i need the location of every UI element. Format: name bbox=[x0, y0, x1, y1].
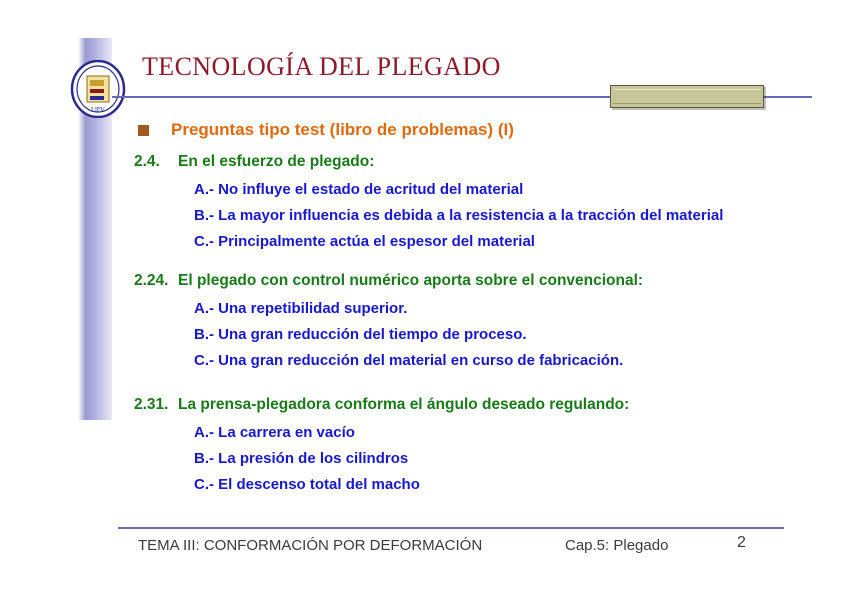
option-a: A.- La carrera en vacío bbox=[194, 420, 629, 446]
question-number: 2.24. bbox=[134, 272, 178, 290]
slide: UPV TECNOLOGÍA DEL PLEGADO Preguntas tip… bbox=[0, 0, 848, 599]
question-options: A.- La carrera en vacío B.- La presión d… bbox=[194, 420, 629, 498]
question-block: 2.31. La prensa-plegadora conforma el án… bbox=[134, 396, 629, 498]
footer-center-label: Cap.5: Plegado bbox=[565, 537, 668, 554]
option-c: C.- Principalmente actúa el espesor del … bbox=[194, 229, 723, 255]
header-decorative-box bbox=[610, 85, 764, 108]
question-text: La prensa-plegadora conforma el ángulo d… bbox=[178, 396, 629, 414]
question-text: El plegado con control numérico aporta s… bbox=[178, 272, 643, 290]
svg-text:UPV: UPV bbox=[91, 106, 105, 114]
question-header: 2.31. La prensa-plegadora conforma el án… bbox=[134, 396, 629, 414]
page-number: 2 bbox=[737, 534, 746, 552]
question-number: 2.31. bbox=[134, 396, 178, 414]
question-options: A.- No influye el estado de acritud del … bbox=[194, 177, 723, 255]
option-c: C.- Una gran reducción del material en c… bbox=[194, 348, 643, 374]
option-b: B.- Una gran reducción del tiempo de pro… bbox=[194, 322, 643, 348]
question-header: 2.24. El plegado con control numérico ap… bbox=[134, 272, 643, 290]
bullet-square-icon bbox=[138, 125, 149, 136]
footer-divider bbox=[118, 527, 784, 529]
question-options: A.- Una repetibilidad superior. B.- Una … bbox=[194, 296, 643, 374]
option-b: B.- La presión de los cilindros bbox=[194, 446, 629, 472]
question-number: 2.4. bbox=[134, 153, 178, 171]
university-logo-icon: UPV bbox=[70, 60, 126, 118]
question-block: 2.4. En el esfuerzo de plegado: A.- No i… bbox=[134, 153, 723, 255]
section-heading: Preguntas tipo test (libro de problemas)… bbox=[138, 120, 514, 140]
option-b: B.- La mayor influencia es debida a la r… bbox=[194, 203, 723, 229]
page-title: TECNOLOGÍA DEL PLEGADO bbox=[142, 52, 501, 82]
option-a: A.- No influye el estado de acritud del … bbox=[194, 177, 723, 203]
footer-left-label: TEMA III: CONFORMACIÓN POR DEFORMACIÓN bbox=[138, 537, 482, 554]
question-text: En el esfuerzo de plegado: bbox=[178, 153, 374, 171]
question-block: 2.24. El plegado con control numérico ap… bbox=[134, 272, 643, 374]
question-header: 2.4. En el esfuerzo de plegado: bbox=[134, 153, 723, 171]
section-heading-label: Preguntas tipo test (libro de problemas)… bbox=[171, 120, 514, 140]
option-c: C.- El descenso total del macho bbox=[194, 472, 629, 498]
option-a: A.- Una repetibilidad superior. bbox=[194, 296, 643, 322]
